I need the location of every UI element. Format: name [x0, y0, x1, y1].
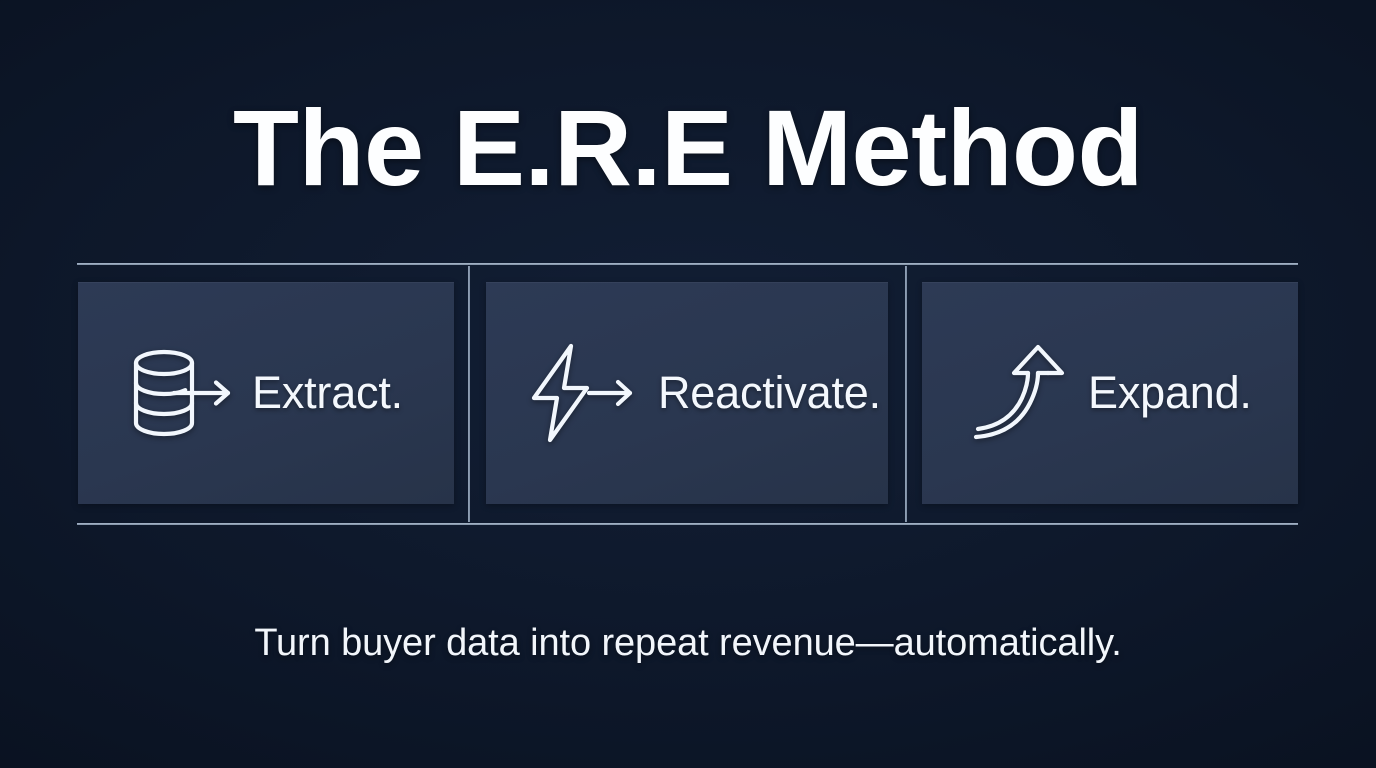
card-reactivate[interactable]: Reactivate.	[486, 282, 888, 504]
card-label-extract: Extract.	[252, 367, 403, 419]
slide-canvas: The E.R.E Method Extract.	[0, 0, 1376, 768]
divider-top	[77, 263, 1298, 265]
card-label-expand: Expand.	[1088, 367, 1252, 419]
lightning-bolt-arrow-icon	[526, 342, 636, 444]
divider-vertical-1	[468, 266, 470, 522]
card-label-reactivate: Reactivate.	[658, 367, 881, 419]
page-caption: Turn buyer data into repeat revenue—auto…	[0, 622, 1376, 665]
page-title: The E.R.E Method	[0, 94, 1376, 202]
method-cards: Extract. Reactivate.	[77, 266, 1298, 522]
divider-bottom	[77, 523, 1298, 525]
card-expand[interactable]: Expand.	[922, 282, 1298, 504]
growth-arrow-icon	[970, 343, 1070, 443]
database-arrow-icon	[128, 345, 236, 441]
divider-vertical-2	[905, 266, 907, 522]
card-extract[interactable]: Extract.	[78, 282, 454, 504]
